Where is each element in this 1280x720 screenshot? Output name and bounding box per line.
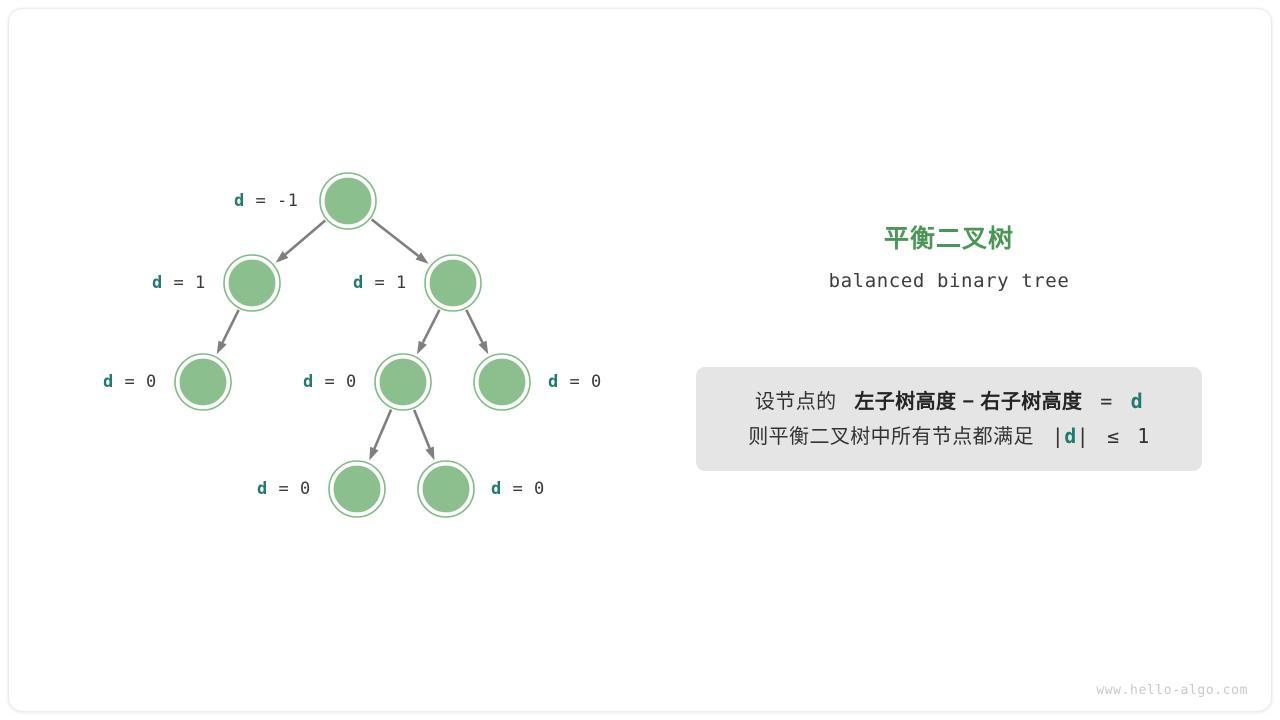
label-value: 0	[146, 372, 157, 392]
label-value: 0	[346, 372, 357, 392]
label-equals: =	[245, 191, 277, 211]
node-balance-label: d = 0	[303, 372, 357, 392]
node-balance-label: d = 1	[353, 273, 407, 293]
label-value: -1	[277, 191, 298, 211]
formula-variable-d-2: d	[1064, 424, 1076, 448]
formula-line-1: 设节点的 左子树高度 − 右子树高度 = d	[755, 384, 1143, 419]
label-value: 1	[396, 273, 407, 293]
label-equals: =	[114, 372, 146, 392]
panel-subtitle: balanced binary tree	[696, 268, 1202, 294]
label-value: 0	[591, 372, 602, 392]
label-variable: d	[491, 479, 502, 499]
label-variable: d	[257, 479, 268, 499]
node-balance-label: d = 0	[257, 479, 311, 499]
formula-prefix-2: 则平衡二叉树中所有节点都满足	[748, 426, 1034, 448]
screenshot-canvas: d = -1d = 1d = 1d = 0d = 0d = 0d = 0d = …	[0, 0, 1280, 720]
label-value: 1	[195, 273, 206, 293]
node-balance-label: d = 0	[548, 372, 602, 392]
label-value: 0	[534, 479, 545, 499]
node-balance-label: d = 0	[491, 479, 545, 499]
label-variable: d	[103, 372, 114, 392]
formula-variable-d-1: d	[1131, 389, 1143, 413]
label-variable: d	[353, 273, 364, 293]
formula-box: 设节点的 左子树高度 − 右子树高度 = d 则平衡二叉树中所有节点都满足 |d…	[696, 367, 1202, 471]
node-balance-label: d = 0	[103, 372, 157, 392]
formula-bold-left: 左子树高度	[854, 391, 956, 413]
label-equals: =	[364, 273, 396, 293]
node-balance-label: d = 1	[152, 273, 206, 293]
label-variable: d	[303, 372, 314, 392]
label-equals: =	[559, 372, 591, 392]
label-equals: =	[163, 273, 195, 293]
formula-bold-right: 右子树高度	[980, 391, 1082, 413]
formula-equals: =	[1100, 389, 1112, 413]
formula-minus: −	[962, 391, 974, 413]
formula-bound-value: 1	[1137, 424, 1149, 448]
formula-operator-leq: ≤	[1107, 424, 1119, 448]
formula-bar-open: |	[1052, 424, 1064, 448]
panel-title: 平衡二叉树	[696, 222, 1202, 256]
info-panel: 平衡二叉树 balanced binary tree	[696, 222, 1202, 294]
watermark-url: www.hello-algo.com	[1096, 683, 1248, 698]
label-value: 0	[300, 479, 311, 499]
label-equals: =	[314, 372, 346, 392]
formula-bar-close: |	[1077, 424, 1089, 448]
content-card	[8, 8, 1272, 712]
node-balance-label: d = -1	[234, 191, 298, 211]
label-variable: d	[152, 273, 163, 293]
formula-prefix-1: 设节点的	[755, 391, 837, 413]
label-equals: =	[268, 479, 300, 499]
label-variable: d	[234, 191, 245, 211]
formula-line-2: 则平衡二叉树中所有节点都满足 |d| ≤ 1	[748, 419, 1150, 454]
label-equals: =	[502, 479, 534, 499]
label-variable: d	[548, 372, 559, 392]
